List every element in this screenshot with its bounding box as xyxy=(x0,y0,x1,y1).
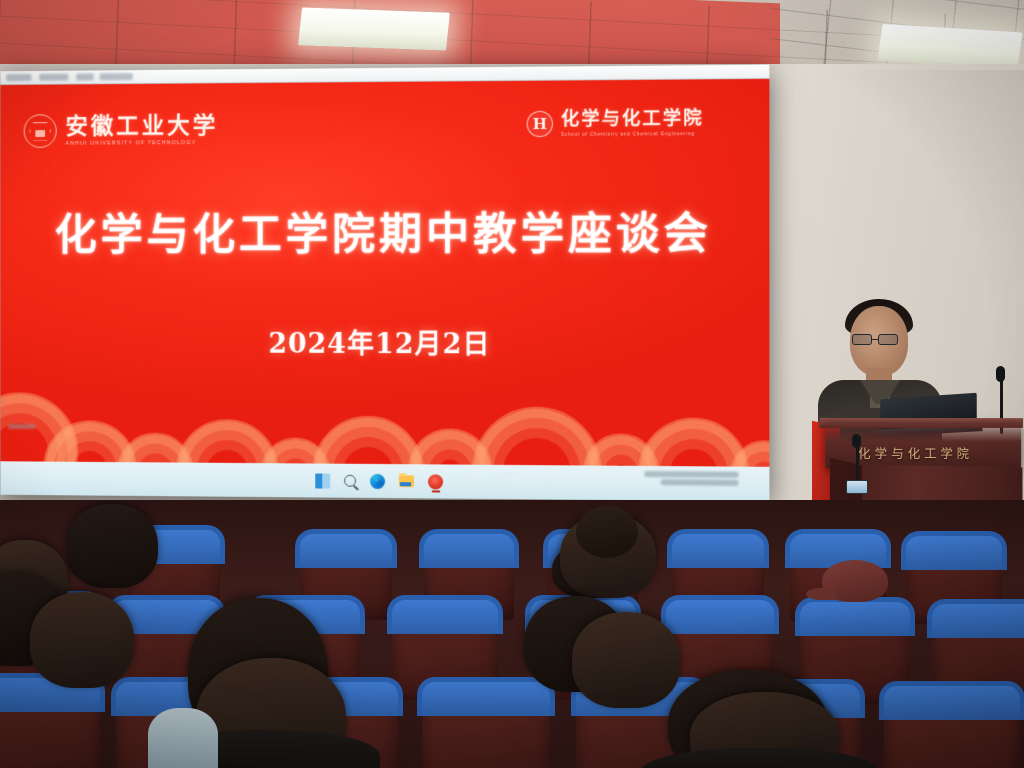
search-icon[interactable] xyxy=(344,475,356,487)
seat[interactable] xyxy=(0,678,100,768)
file-explorer-icon[interactable] xyxy=(399,475,414,487)
lecture-hall-photo: 安徽工业大学 ANHUI UNIVERSITY OF TECHNOLOGY H … xyxy=(0,0,1024,768)
podium-label: 化学与化工学院 xyxy=(858,443,1016,462)
attendee-head xyxy=(30,592,134,688)
seat[interactable] xyxy=(884,686,1020,768)
university-seal-icon xyxy=(24,114,57,148)
podium-control-panel[interactable] xyxy=(846,480,868,494)
attendee-cap xyxy=(822,560,888,602)
college-h-seal-icon: H xyxy=(527,111,553,137)
ceiling-light-panel xyxy=(298,7,450,50)
windows-taskbar[interactable] xyxy=(0,461,769,501)
college-name-cn: 化学与化工学院 xyxy=(561,110,704,130)
microphone-head-icon xyxy=(852,434,861,448)
windows-start-icon[interactable] xyxy=(315,473,330,488)
slide-title: 化学与化工学院期中教学座谈会 xyxy=(0,199,769,263)
red-app-icon[interactable] xyxy=(428,474,443,489)
attendee-hair-bun xyxy=(576,506,638,558)
slide-header: 安徽工业大学 ANHUI UNIVERSITY OF TECHNOLOGY H … xyxy=(0,79,769,170)
eyeglasses-icon xyxy=(852,334,872,345)
audience-seating xyxy=(0,500,1024,768)
seat[interactable] xyxy=(422,682,550,768)
university-name-en: ANHUI UNIVERSITY OF TECHNOLOGY xyxy=(65,140,218,147)
edge-browser-icon[interactable] xyxy=(370,473,385,488)
attendee-head xyxy=(66,504,158,588)
college-logo: H 化学与化工学院 School of Chemistry and Chemic… xyxy=(527,110,704,137)
projection-screen: 安徽工业大学 ANHUI UNIVERSITY OF TECHNOLOGY H … xyxy=(0,65,769,502)
presentation-slide: 安徽工业大学 ANHUI UNIVERSITY OF TECHNOLOGY H … xyxy=(0,79,769,467)
taskbar-system-tray[interactable] xyxy=(644,469,738,486)
college-name-en: School of Chemistry and Chemical Enginee… xyxy=(561,131,704,137)
university-logo: 安徽工业大学 ANHUI UNIVERSITY OF TECHNOLOGY xyxy=(24,113,219,148)
slide-date: 2024年12月2日 xyxy=(0,321,769,362)
eyeglasses-icon xyxy=(878,334,898,345)
university-name-cn: 安徽工业大学 xyxy=(65,114,218,139)
attendee-head xyxy=(572,612,680,708)
cloud-spiral-decoration xyxy=(0,357,769,467)
eyeglasses-bridge xyxy=(872,339,878,340)
microphone-head-icon xyxy=(996,366,1005,382)
attendee-shoulders xyxy=(148,708,218,768)
